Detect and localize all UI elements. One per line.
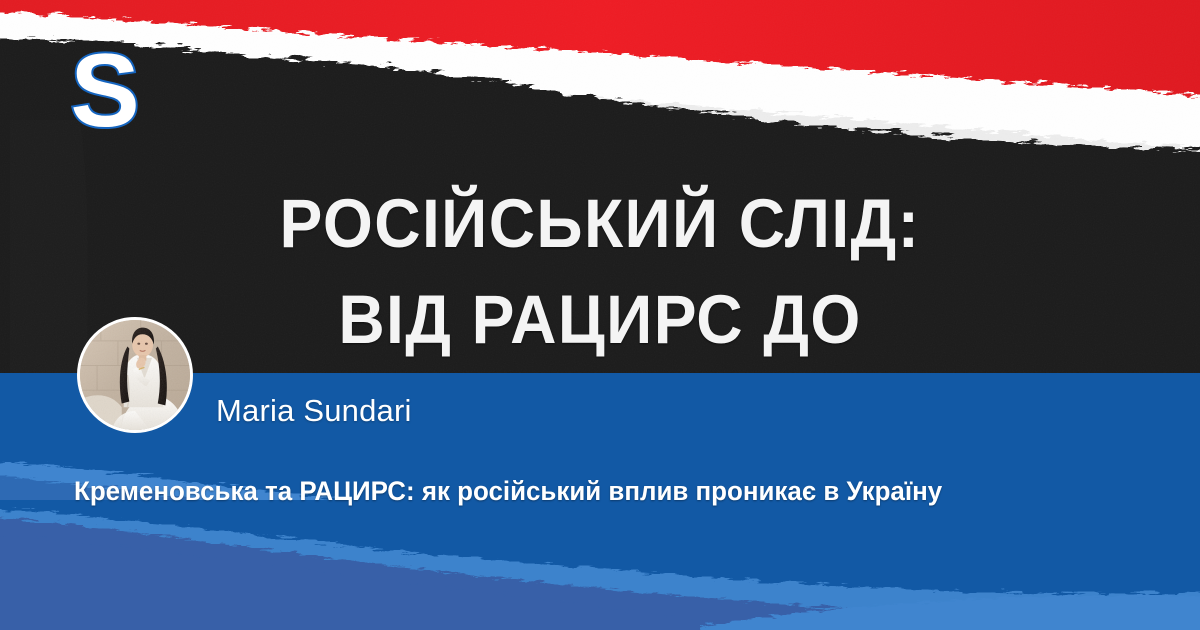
logo-s-icon: S <box>62 44 148 146</box>
author-name[interactable]: Maria Sundari <box>216 392 412 430</box>
share-card: РОСІЙСЬКИЙ СЛІД: ВІД РАЦИРС ДО УКРАЇНСЬК… <box>0 0 1200 630</box>
bottom-blue-torn-layers <box>0 500 1200 630</box>
site-logo[interactable]: S <box>62 44 148 146</box>
avatar-photo <box>80 320 190 430</box>
svg-text:S: S <box>70 44 139 146</box>
avatar[interactable] <box>77 317 193 433</box>
article-caption[interactable]: Кременовська та РАЦИРС: як російський вп… <box>74 474 942 508</box>
avatar-ring <box>77 317 193 433</box>
